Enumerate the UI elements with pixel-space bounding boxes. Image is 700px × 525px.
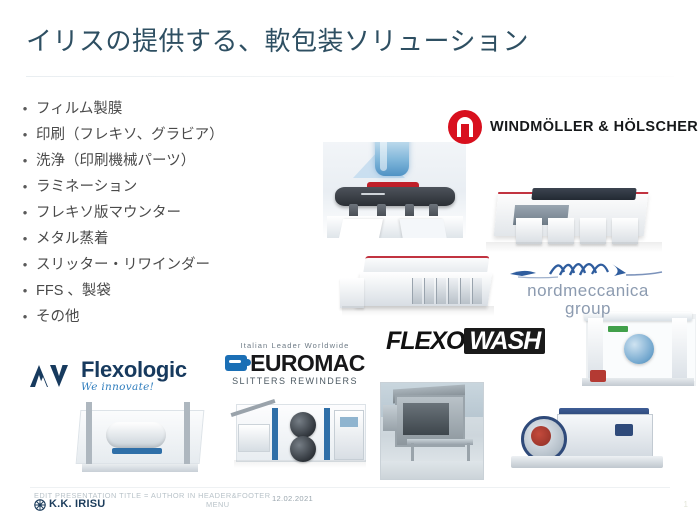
title-divider — [26, 76, 674, 77]
bullet-marker-icon: • — [14, 148, 36, 174]
flexologic-tagline: We innovate! — [81, 381, 187, 394]
flexo-wash-word-flexo: FLEXO — [386, 328, 464, 354]
flexographic-printing-press-photo — [480, 172, 670, 258]
footer-date: 12.02.2021 — [272, 494, 313, 503]
list-item-label: フレキソ版マウンター — [36, 200, 181, 226]
bullet-marker-icon: • — [14, 304, 36, 330]
flexo-plate-mounter-photo — [72, 392, 208, 480]
list-item: • フレキソ版マウンター — [14, 200, 314, 226]
bullet-marker-icon: • — [14, 226, 36, 252]
page-title: イリスの提供する、軟包装ソリューション — [26, 24, 666, 58]
bullet-list: • フィルム製膜 • 印刷（フレキソ、グラビア） • 洗浄（印刷機械パーツ） •… — [14, 96, 314, 330]
nordmeccanica-logo: nordmeccanica group — [500, 258, 676, 318]
list-item-label: ラミネーション — [36, 174, 137, 200]
red-circle-house-icon — [448, 110, 482, 144]
rotogravure-printing-press-photo — [338, 252, 500, 324]
vacuum-metallizer-photo — [505, 398, 669, 476]
nordmeccanica-subtitle: group — [500, 300, 676, 318]
list-item: • フィルム製膜 — [14, 96, 314, 122]
footer-menu-label: MENU — [206, 500, 230, 509]
page-number: 1 — [684, 500, 688, 509]
irisu-footer-logo: K.K. IRISU — [34, 498, 105, 510]
irisu-wheel-icon — [34, 498, 46, 510]
blown-film-extrusion-line-photo — [323, 142, 466, 238]
list-item: • メタル蒸着 — [14, 226, 314, 252]
bullet-marker-icon: • — [14, 278, 36, 304]
euromac-wordmark: EUROMAC — [250, 351, 365, 375]
windmoeller-hoelscher-logo: WINDMÖLLER & HÖLSCHER — [448, 110, 698, 144]
flexo-wash-logo: FLEXO WASH — [386, 328, 545, 354]
windmoeller-hoelscher-wordmark: WINDMÖLLER & HÖLSCHER — [490, 119, 698, 135]
slitter-rewinder-photo — [228, 390, 374, 480]
av-chevron-icon — [28, 363, 74, 389]
bullet-marker-icon: • — [14, 122, 36, 148]
euromac-tagline-bottom: SLITTERS REWINDERS — [222, 375, 368, 387]
irisu-company-name: K.K. IRISU — [49, 498, 105, 510]
list-item-label: メタル蒸着 — [36, 226, 109, 252]
slide-canvas: イリスの提供する、軟包装ソリューション • フィルム製膜 • 印刷（フレキソ、グ… — [0, 0, 700, 525]
list-item: • スリッター・リワインダー — [14, 252, 314, 278]
list-item-label: その他 — [36, 304, 80, 330]
list-item-label: FFS 、製袋 — [36, 278, 111, 304]
bullet-marker-icon: • — [14, 174, 36, 200]
list-item-label: 印刷（フレキソ、グラビア） — [36, 122, 224, 148]
list-item: • 印刷（フレキソ、グラビア） — [14, 122, 314, 148]
list-item: • ラミネーション — [14, 174, 314, 200]
footer-divider — [30, 487, 670, 488]
flexologic-wordmark: Flexologic — [81, 358, 187, 381]
list-item-label: フィルム製膜 — [36, 96, 122, 122]
bullet-marker-icon: • — [14, 252, 36, 278]
flexo-wash-word-wash: WASH — [464, 328, 545, 354]
blue-e-icon — [225, 355, 247, 371]
list-item-label: スリッター・リワインダー — [36, 252, 210, 278]
av-flexologic-logo: Flexologic We innovate! — [28, 358, 187, 394]
list-item: • 洗浄（印刷機械パーツ） — [14, 148, 314, 174]
euromac-logo: Italian Leader Worldwide EUROMAC SLITTER… — [222, 341, 368, 387]
printing-parts-washer-photo — [380, 382, 484, 480]
list-item-label: 洗浄（印刷機械パーツ） — [36, 148, 195, 174]
bullet-marker-icon: • — [14, 200, 36, 226]
bullet-marker-icon: • — [14, 96, 36, 122]
list-item: • FFS 、製袋 — [14, 278, 314, 304]
list-item: • その他 — [14, 304, 314, 330]
nordmeccanica-wordmark: nordmeccanica — [500, 282, 676, 300]
blue-wave-swoosh-icon — [500, 258, 676, 282]
